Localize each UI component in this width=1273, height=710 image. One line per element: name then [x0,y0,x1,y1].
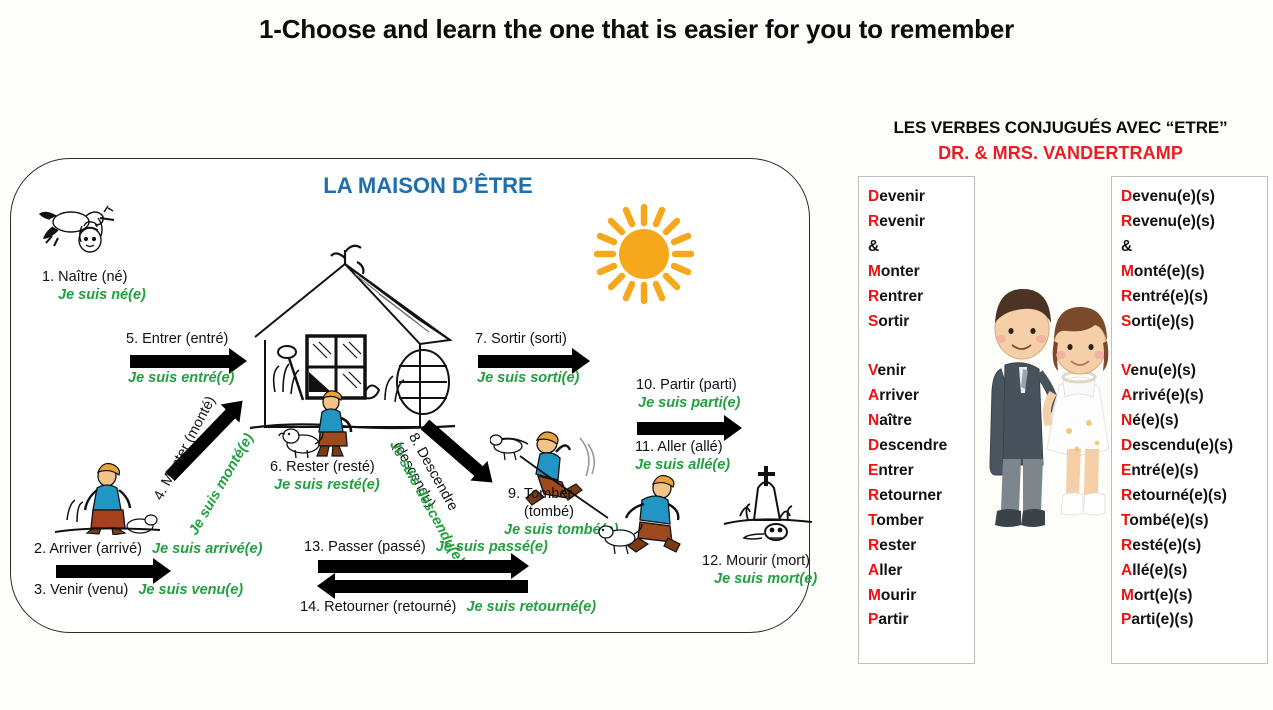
infinitive-item-13-text: omber [876,512,923,529]
item-10-conjugation: Je suis parti(e) [638,394,740,412]
participle-item-2: & [1121,235,1263,260]
participle-item-9-text: é(e)(s) [1132,412,1179,429]
infinitive-item-6 [868,334,970,359]
participle-item-1-text: evenu(e)(s) [1132,213,1215,230]
infinitive-item-8: Arriver [868,384,970,409]
participle-item-12: Retourné(e)(s) [1121,484,1263,509]
infinitive-item-12: Retourner [868,484,970,509]
participle-item-14-initial: R [1121,537,1132,554]
participle-item-8-initial: A [1121,387,1132,404]
participle-item-11-initial: E [1121,462,1131,479]
item-12-verb: 12. Mourir (mort) [702,552,817,570]
participle-item-3: Monté(e)(s) [1121,260,1263,285]
infinitive-item-11-text: ntrer [878,462,913,479]
infinitive-item-14: Rester [868,534,970,559]
diagram-item-12: 12. Mourir (mort) Je suis mort(e) [702,552,817,588]
participle-item-10: Descendu(e)(s) [1121,434,1263,459]
infinitive-item-11: Entrer [868,459,970,484]
participle-item-9: Né(e)(s) [1121,409,1263,434]
wedding-cake-topper-icon [981,273,1109,541]
item-2-conjugation: Je suis arrivé(e) [152,541,262,557]
tombstone-icon [718,462,814,542]
infinitive-verb-list: DevenirRevenir&MonterRentrerSortir Venir… [858,176,975,664]
participle-item-0-initial: D [1121,188,1132,205]
item-1-conjugation: Je suis né(e) [58,286,146,304]
infinitive-item-13: Tomber [868,509,970,534]
item-3-verb: 3. Venir (venu) [34,582,128,598]
item-6-conjugation: Je suis resté(e) [274,476,380,494]
infinitive-item-17-text: artir [878,611,908,628]
infinitive-item-0-text: evenir [879,188,925,205]
infinitive-item-5-initial: S [868,313,878,330]
passer-arrow [318,560,512,573]
diagram-item-3: 3. Venir (venu) Je suis venu(e) [34,581,243,599]
item-5-verb: 5. Entrer (entré) [126,330,228,348]
participle-item-3-initial: M [1121,263,1134,280]
infinitive-item-17: Partir [868,608,970,633]
participle-item-5: Sorti(e)(s) [1121,310,1263,335]
item-7-conjugation: Je suis sorti(e) [477,370,579,386]
item-2-verb: 2. Arriver (arrivé) [34,541,142,557]
boy-walking-icon [55,460,160,535]
infinitive-item-17-initial: P [868,611,878,628]
infinitive-item-14-initial: R [868,537,879,554]
participle-item-15: Allé(e)(s) [1121,559,1263,584]
participle-item-11-text: ntré(e)(s) [1131,462,1198,479]
participle-item-8: Arrivé(e)(s) [1121,384,1263,409]
item-13-verb: 13. Passer (passé) [304,539,426,555]
infinitive-item-16-initial: M [868,587,881,604]
participle-item-0-text: evenu(e)(s) [1132,188,1215,205]
participle-item-11: Entré(e)(s) [1121,459,1263,484]
infinitive-item-4-initial: R [868,288,879,305]
diagram-item-14: 14. Retourner (retourné) Je suis retourn… [300,598,596,616]
item-11-verb: 11. Aller (allé) [635,438,730,456]
sun-icon [592,202,696,306]
infinitive-item-5: Sortir [868,310,970,335]
diagram-item-2: 2. Arriver (arrivé) Je suis arrivé(e) [34,540,262,558]
participle-verb-list: Devenu(e)(s)Revenu(e)(s)&Monté(e)(s)Rent… [1111,176,1268,664]
infinitive-item-16-text: ourir [881,587,916,604]
item-13-conjugation: Je suis passé(e) [436,539,548,555]
vandertramp-panel: LES VERBES CONJUGUÉS AVEC “ETRE” DR. & M… [853,118,1268,666]
participle-item-16-initial: M [1121,587,1134,604]
participle-item-2-text: & [1121,238,1132,255]
diagram-title: LA MAISON D’ÊTRE [248,173,608,199]
item-1-verb: 1. Naître (né) [42,268,146,286]
infinitive-item-10-text: escendre [879,437,947,454]
infinitive-item-9-initial: N [868,412,879,429]
vandertramp-heading: DR. & MRS. VANDERTRAMP [853,143,1268,164]
participle-item-15-initial: A [1121,562,1132,579]
infinitive-item-4-text: entrer [879,288,923,305]
infinitive-item-12-initial: R [868,487,879,504]
participle-item-14: Resté(e)(s) [1121,534,1263,559]
participle-item-8-text: rrivé(e)(s) [1132,387,1204,404]
infinitive-item-1-text: evenir [879,213,925,230]
infinitive-item-3: Monter [868,260,970,285]
infinitive-item-1-initial: R [868,213,879,230]
entrer-arrow [130,355,230,368]
page-title: 1-Choose and learn the one that is easie… [0,14,1273,45]
participle-item-13: Tombé(e)(s) [1121,509,1263,534]
infinitive-item-15-initial: A [868,562,879,579]
infinitive-item-10: Descendre [868,434,970,459]
infinitive-item-7: Venir [868,359,970,384]
participle-item-12-initial: R [1121,487,1132,504]
item-6-verb: 6. Rester (resté) [270,458,380,476]
participle-item-10-initial: D [1121,437,1132,454]
partir-aller-arrow [637,422,725,435]
infinitive-item-16: Mourir [868,584,970,609]
etre-heading: LES VERBES CONJUGUÉS AVEC “ETRE” [853,118,1268,138]
sortir-arrow [478,355,573,368]
infinitive-item-7-text: enir [877,362,905,379]
participle-item-7: Venu(e)(s) [1121,359,1263,384]
infinitive-item-8-initial: A [868,387,879,404]
participle-item-4: Rentré(e)(s) [1121,285,1263,310]
item-12-conjugation: Je suis mort(e) [714,570,817,588]
participle-item-5-text: orti(e)(s) [1131,313,1194,330]
participle-item-13-text: ombé(e)(s) [1129,512,1208,529]
arriver-venir-arrow [56,565,154,578]
infinitive-item-9: Naître [868,409,970,434]
infinitive-item-3-initial: M [868,263,881,280]
infinitive-item-0-initial: D [868,188,879,205]
infinitive-item-5-text: ortir [878,313,909,330]
diagram-item-7: 7. Sortir (sorti) [475,330,567,348]
item-14-conjugation: Je suis retourné(e) [466,599,596,615]
participle-item-10-text: escendu(e)(s) [1132,437,1233,454]
infinitive-item-1: Revenir [868,210,970,235]
participle-item-14-text: esté(e)(s) [1132,537,1201,554]
participle-item-5-initial: S [1121,313,1131,330]
participle-item-1: Revenu(e)(s) [1121,210,1263,235]
participle-item-9-initial: N [1121,412,1132,429]
infinitive-item-2: & [868,235,970,260]
infinitive-item-15-text: ller [879,562,902,579]
item-7-verb: 7. Sortir (sorti) [475,330,567,348]
participle-item-15-text: llé(e)(s) [1132,562,1187,579]
infinitive-item-10-initial: D [868,437,879,454]
infinitive-item-12-text: etourner [879,487,942,504]
infinitive-item-8-text: rriver [879,387,919,404]
diagram-item-11: 11. Aller (allé) Je suis allé(e) [635,438,730,474]
infinitive-item-2-text: & [868,238,879,255]
participle-item-4-initial: R [1121,288,1132,305]
infinitive-item-3-text: onter [881,263,920,280]
diagram-item-10: 10. Partir (parti) Je suis parti(e) [636,376,740,412]
participle-item-17-text: arti(e)(s) [1131,611,1193,628]
participle-item-1-initial: R [1121,213,1132,230]
infinitive-item-0: Devenir [868,185,970,210]
infinitive-item-9-text: aître [879,412,912,429]
item-10-verb: 10. Partir (parti) [636,376,740,394]
item-14-verb: 14. Retourner (retourné) [300,599,456,615]
infinitive-item-6-text [868,337,872,354]
participle-item-17-initial: P [1121,611,1131,628]
participle-item-16: Mort(e)(s) [1121,584,1263,609]
diagram-item-5: 5. Entrer (entré) [126,330,228,348]
participle-item-4-text: entré(e)(s) [1132,288,1208,305]
item-5-conjugation: Je suis entré(e) [128,370,234,386]
infinitive-item-4: Rentrer [868,285,970,310]
item-3-conjugation: Je suis venu(e) [138,582,243,598]
stork-icon [38,196,128,258]
participle-item-6-text [1121,337,1125,354]
infinitive-item-11-initial: E [868,462,878,479]
diagram-item-6: 6. Rester (resté) Je suis resté(e) [270,458,380,494]
diagram-item-1: 1. Naître (né) Je suis né(e) [42,268,146,304]
participle-item-0: Devenu(e)(s) [1121,185,1263,210]
participle-item-16-text: ort(e)(s) [1134,587,1193,604]
participle-item-7-text: enu(e)(s) [1130,362,1195,379]
participle-item-6 [1121,334,1263,359]
participle-item-3-text: onté(e)(s) [1134,263,1205,280]
boy-running-with-dog-icon [598,472,708,554]
infinitive-item-15: Aller [868,559,970,584]
retourner-arrow [334,580,528,593]
participle-item-17: Parti(e)(s) [1121,608,1263,633]
participle-item-12-text: etourné(e)(s) [1132,487,1227,504]
infinitive-item-14-text: ester [879,537,916,554]
